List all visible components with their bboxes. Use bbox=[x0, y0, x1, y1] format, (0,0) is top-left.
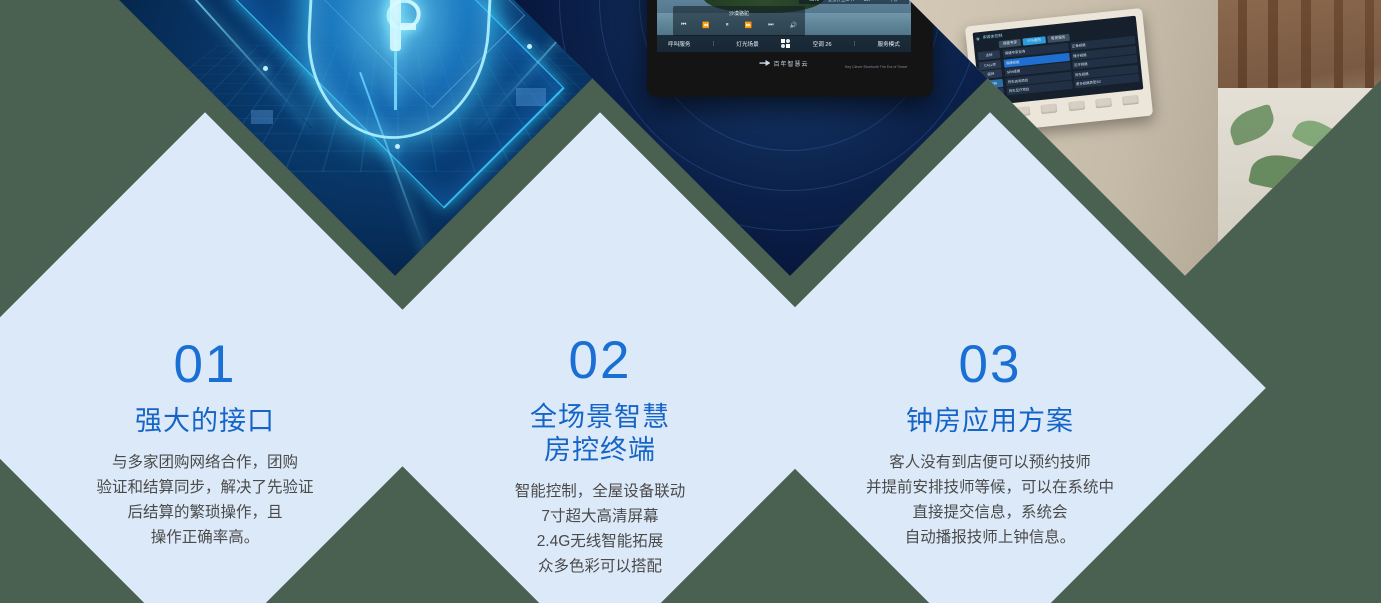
media-control-icon[interactable]: ⏩ bbox=[745, 22, 752, 29]
tablet-footer-note: Hey Clever Bluetooth The Era of Smart bbox=[845, 65, 907, 70]
tablet-bottom-bar[interactable]: 呼叫服务 | 灯光场景 空调 26 | 服务模式 bbox=[657, 35, 911, 52]
tablet-logo: 百年智慧云 bbox=[759, 59, 808, 68]
panel-2-number: 02 bbox=[569, 334, 632, 387]
wall-panel-side-button[interactable]: 点钟 bbox=[977, 50, 1000, 60]
panel-3-number: 03 bbox=[959, 338, 1022, 391]
wall-panel-logo-icon: ✿ bbox=[976, 35, 980, 40]
wall-panel-tab[interactable]: 客房服务 bbox=[1047, 33, 1070, 42]
media-control-icon[interactable]: ⏸ bbox=[726, 22, 729, 29]
apps-grid-icon[interactable] bbox=[781, 39, 791, 49]
wall-panel-button-2[interactable] bbox=[1013, 106, 1030, 117]
wall-panel-side-button[interactable]: 点钟 bbox=[981, 87, 1004, 97]
panel-1-title: 强大的接口 bbox=[135, 405, 275, 438]
panel-1-description: 与多家团购网络合作，团购 验证和结算同步，解决了先验证 后结算的繁琐操作，且 操… bbox=[96, 450, 313, 550]
tablet-screen: 22:35 SPA6层 19℃ 11/24 客人 项目 技师 bbox=[657, 0, 911, 52]
wall-panel-button-6[interactable] bbox=[1122, 94, 1139, 105]
smart-room-tablet-device: CSI280 22:35 S bbox=[647, 0, 933, 97]
wall-panel-screen[interactable]: ✿ 多媒体控制 保健专家SPA服务客房服务 点钟CALL师画钟当前钟点钟 保健专… bbox=[972, 15, 1143, 106]
bar-item-air-conditioner[interactable]: 空调 26 bbox=[813, 40, 832, 48]
tablet-logo-text: 百年智慧云 bbox=[773, 59, 808, 68]
wall-panel-button-3[interactable] bbox=[1040, 103, 1057, 114]
arrow-mark-icon bbox=[759, 60, 770, 66]
wall-panel-button-5[interactable] bbox=[1095, 97, 1112, 108]
bar-divider-1: | bbox=[713, 41, 714, 47]
wall-panel-button-4[interactable] bbox=[1068, 100, 1085, 111]
panel-2-description: 智能控制，全屋设备联动 7寸超大高清屏幕 2.4G无线智能拓展 众多色彩可以搭配 bbox=[515, 479, 686, 579]
infographic-stage: CSI280 22:35 S bbox=[0, 0, 1381, 603]
bar-item-service-mode[interactable]: 服务模式 bbox=[877, 40, 899, 48]
panel-3-description: 客人没有到店便可以预约技师 并提前安排技师等候，可以在系统中 直接提交信息，系统… bbox=[866, 450, 1114, 550]
panel-3-title: 钟房应用方案 bbox=[906, 405, 1074, 438]
media-controls[interactable]: ⏮⏪⏸⏩⏭🔊 bbox=[673, 17, 805, 29]
wall-panel-header-text: 多媒体控制 bbox=[982, 32, 1003, 40]
media-title: 沙漠骆驼 bbox=[673, 6, 805, 17]
wall-panel-tab[interactable]: 保健专家 bbox=[998, 38, 1021, 47]
wall-panel-menu-right[interactable]: 正骨经络理疗经络足疗经络养生经络更多经络类型3/2 bbox=[1069, 35, 1139, 93]
tablet-service-table: 客人 项目 技师 状态 8179全身养生SPA182下钟8159正骨足疗全身SP… bbox=[799, 0, 909, 4]
tablet-footer: 百年智慧云 Hey Clever Bluetooth The Era of Sm… bbox=[657, 52, 911, 74]
wall-panel-side-button[interactable]: CALL师 bbox=[978, 59, 1001, 69]
panel-1-number: 01 bbox=[174, 338, 237, 391]
bar-divider-2: | bbox=[854, 41, 855, 47]
media-control-icon[interactable]: ⏭ bbox=[768, 22, 773, 29]
wall-panel-menu-left[interactable]: 保健专家咨询保健经络SPA经络养生咨询项目养生足疗项目 bbox=[1002, 42, 1072, 100]
bar-item-call-service[interactable]: 呼叫服务 bbox=[668, 39, 690, 47]
table-row: 8171全身养生SPA167下钟 bbox=[801, 0, 907, 3]
media-control-icon[interactable]: 🔊 bbox=[790, 22, 797, 29]
wall-panel-tab[interactable]: SPA服务 bbox=[1023, 36, 1046, 45]
bar-item-light-scene[interactable]: 灯光场景 bbox=[736, 40, 758, 48]
tablet-media-widget[interactable]: 沙漠骆驼 ⏮⏪⏸⏩⏭🔊 bbox=[673, 6, 805, 36]
media-control-icon[interactable]: ⏪ bbox=[702, 22, 709, 29]
media-control-icon[interactable]: ⏮ bbox=[681, 22, 686, 29]
panel-2-title: 全场景智慧 房控终端 bbox=[530, 401, 670, 467]
